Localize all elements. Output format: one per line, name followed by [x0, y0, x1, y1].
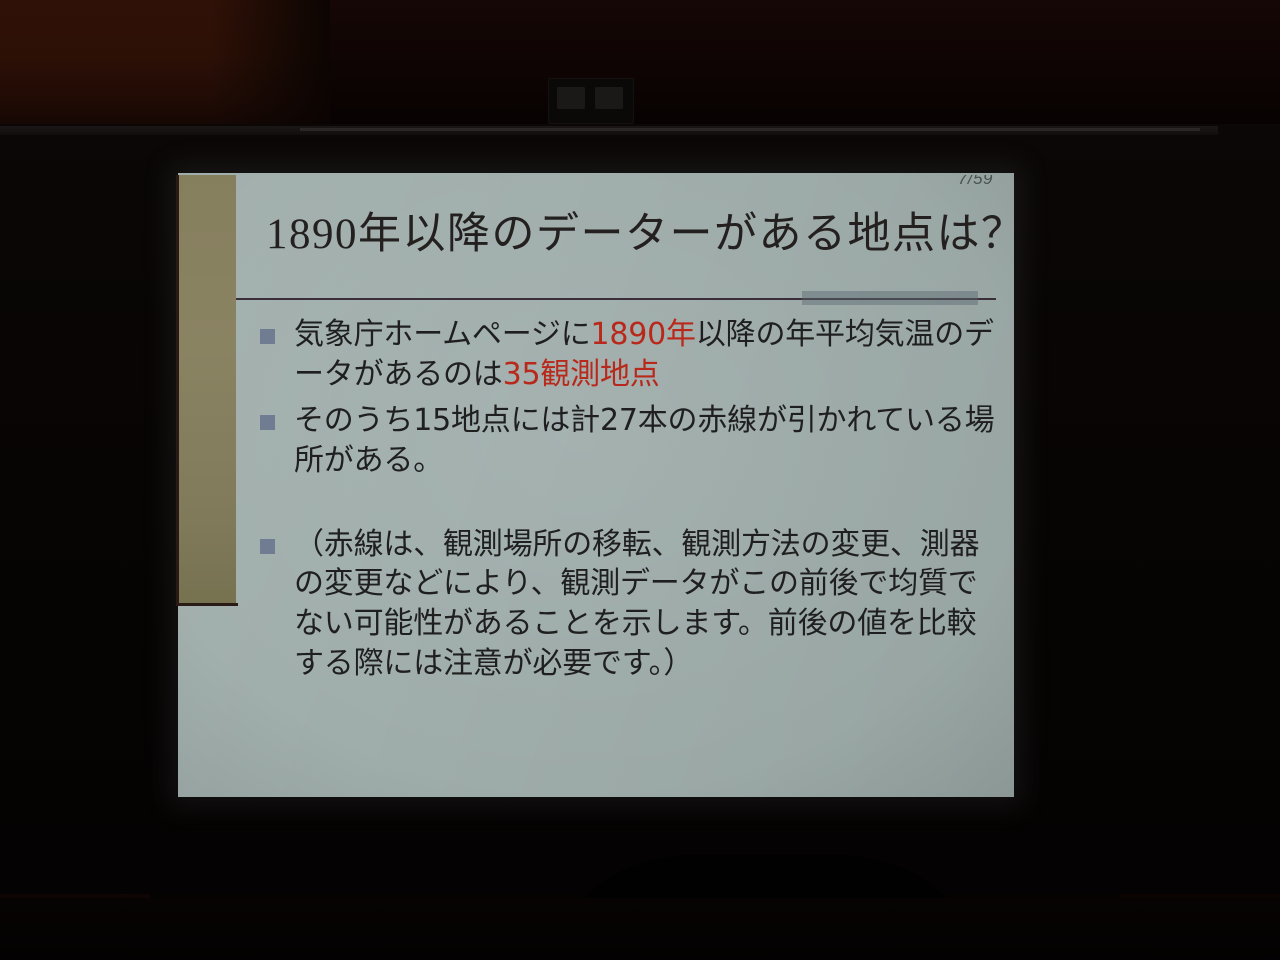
bullet-text: そのうち15地点には計27本の赤線が引かれている場所がある。	[294, 403, 994, 478]
projected-slide-photo: 7/59 1890年以降のデーターがある地点は？ 気象庁ホームページに1890年…	[0, 0, 1280, 960]
bullet-text-plain: （赤線は、観測場所の移転、観測方法の変更、測器の変更などにより、観測データがこの…	[294, 527, 979, 682]
bullet-item: 気象庁ホームページに1890年以降の年平均気温のデータがあるのは35観測地点	[250, 315, 1006, 395]
bullet-square-icon	[260, 329, 275, 344]
bullet-text-plain: 気象庁ホームページに	[294, 317, 591, 352]
bullet-text-highlight: 1890年	[591, 317, 696, 352]
bullet-square-icon	[260, 415, 275, 430]
room-wall-left	[0, 0, 330, 126]
projector-spill-band-left-edge	[176, 175, 179, 606]
ceiling-mount-bracket	[548, 78, 634, 124]
bullet-text: （赤線は、観測場所の移転、観測方法の変更、測器の変更などにより、観測データがこの…	[294, 527, 979, 682]
slide-content: 7/59 1890年以降のデーターがある地点は？ 気象庁ホームページに1890年…	[236, 175, 1011, 795]
slide-bullet-list: 気象庁ホームページに1890年以降の年平均気温のデータがあるのは35観測地点その…	[250, 315, 1006, 690]
bullet-square-icon	[260, 539, 275, 554]
bullet-item: （赤線は、観測場所の移転、観測方法の変更、測器の変更などにより、観測データがこの…	[250, 525, 1006, 685]
room-wall-right	[330, 0, 1280, 126]
screen-top-rail-highlight	[300, 128, 1200, 131]
room-floor-shadow	[0, 898, 1280, 960]
bullet-text: 気象庁ホームページに1890年以降の年平均気温のデータがあるのは35観測地点	[294, 317, 994, 392]
projector-spill-band-bottom-edge	[178, 603, 238, 606]
slide-page-number: 7/59	[958, 175, 993, 189]
mount-slot-right	[595, 87, 623, 109]
bullet-text-highlight: 35観測地点	[503, 357, 660, 392]
projector-spill-band	[178, 175, 236, 606]
mount-slot-left	[557, 87, 585, 109]
bullet-item: そのうち15地点には計27本の赤線が引かれている場所がある。	[250, 401, 1006, 481]
slide-title: 1890年以降のデーターがある地点は？	[266, 211, 986, 259]
bullet-text-plain: そのうち15地点には計27本の赤線が引かれている場所がある。	[294, 403, 994, 478]
title-divider-accent-bar	[802, 291, 978, 305]
